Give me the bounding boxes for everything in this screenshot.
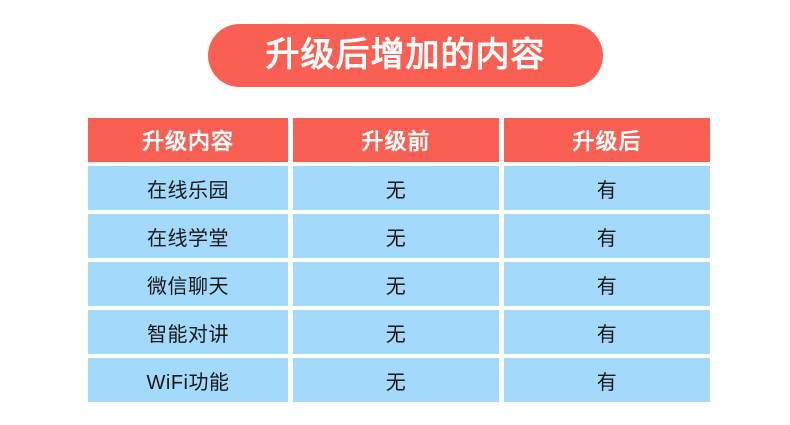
table-row: 微信聊天 无 有 <box>88 262 710 306</box>
cell-before: 无 <box>293 166 499 210</box>
cell-feature: WiFi功能 <box>88 358 288 402</box>
table-row: WiFi功能 无 有 <box>88 358 710 402</box>
cell-before: 无 <box>293 310 499 354</box>
cell-feature: 微信聊天 <box>88 262 288 306</box>
table-header-row: 升级内容 升级前 升级后 <box>88 118 710 162</box>
comparison-table-container: 升级内容 升级前 升级后 在线乐园 无 有 在线学堂 无 有 微信聊天 无 有 <box>88 118 710 402</box>
cell-after: 有 <box>504 310 710 354</box>
cell-before: 无 <box>293 214 499 258</box>
table-row: 智能对讲 无 有 <box>88 310 710 354</box>
table-row: 在线学堂 无 有 <box>88 214 710 258</box>
page-title-banner: 升级后增加的内容 <box>208 24 603 87</box>
cell-before: 无 <box>293 358 499 402</box>
table-header: 升级内容 升级前 升级后 <box>88 118 710 162</box>
column-header-before: 升级前 <box>293 118 499 162</box>
column-header-feature: 升级内容 <box>88 118 288 162</box>
cell-after: 有 <box>504 214 710 258</box>
table-body: 在线乐园 无 有 在线学堂 无 有 微信聊天 无 有 智能对讲 无 有 WiFi… <box>88 166 710 402</box>
cell-feature: 在线乐园 <box>88 166 288 210</box>
cell-after: 有 <box>504 262 710 306</box>
column-header-after: 升级后 <box>504 118 710 162</box>
table-row: 在线乐园 无 有 <box>88 166 710 210</box>
cell-after: 有 <box>504 358 710 402</box>
cell-after: 有 <box>504 166 710 210</box>
cell-feature: 在线学堂 <box>88 214 288 258</box>
upgrade-comparison-table: 升级内容 升级前 升级后 在线乐园 无 有 在线学堂 无 有 微信聊天 无 有 <box>83 114 715 406</box>
page-title: 升级后增加的内容 <box>266 38 546 74</box>
cell-feature: 智能对讲 <box>88 310 288 354</box>
cell-before: 无 <box>293 262 499 306</box>
